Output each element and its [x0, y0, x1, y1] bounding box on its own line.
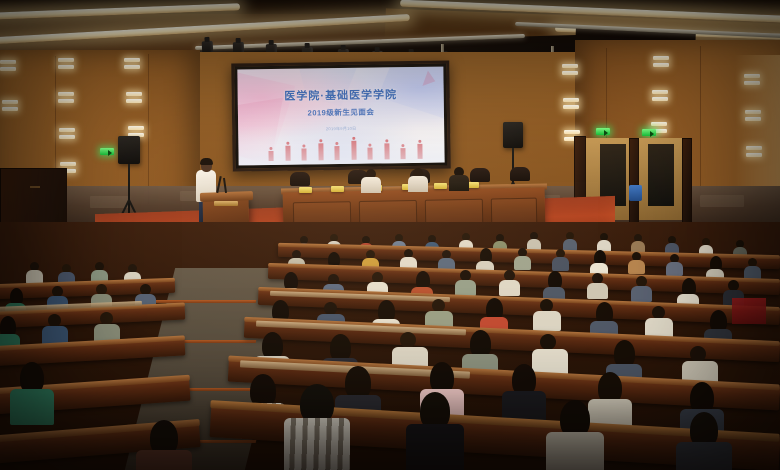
wall-sconce [653, 56, 669, 70]
name-card [331, 186, 344, 192]
pa-speaker-right [503, 122, 523, 148]
wall-sconce [126, 92, 142, 106]
slide-content: 医学院·基础医学学院 2019级新生见面会 2019年9月10日 [237, 67, 444, 166]
right-door-leaf[interactable] [682, 138, 692, 224]
exit-sign-icon [642, 129, 656, 136]
auditorium-photo: 医学院·基础医学学院 2019级新生见面会 2019年9月10日 [0, 0, 780, 470]
slide-subtitle: 2019级新生见面会 [238, 106, 444, 120]
right-door-glass [648, 144, 674, 206]
red-wall-banner [732, 298, 766, 324]
pa-speaker-left-stand [128, 164, 130, 216]
stage-chair [290, 172, 310, 186]
wall-sconce [124, 58, 140, 72]
projection-screen: 医学院·基础医学学院 2019级新生见面会 2019年9月10日 [231, 60, 450, 171]
pa-speaker-left [118, 136, 140, 164]
left-door-handle[interactable] [30, 186, 40, 188]
wall-sconce [744, 74, 760, 88]
name-card [434, 183, 447, 189]
stage-chair [470, 168, 490, 182]
wall-seam [700, 46, 701, 196]
aisle-step [146, 300, 257, 303]
wall-sconce [563, 98, 579, 112]
podium-emblem [214, 201, 238, 206]
wall-sconce [652, 90, 668, 104]
wall-sconce [562, 64, 578, 78]
exit-sign-icon [100, 148, 114, 155]
right-door-leaf[interactable] [629, 138, 639, 224]
wall-seam [148, 54, 149, 204]
slide-haze [238, 122, 445, 165]
stage-chair [510, 167, 530, 181]
speaker-hair [200, 158, 213, 165]
wall-sconce [2, 100, 18, 114]
trash-bin [629, 185, 642, 201]
wall-sconce [745, 110, 761, 124]
wall-sconce [59, 128, 75, 142]
slide-title: 医学院·基础医学学院 [238, 86, 444, 105]
name-card [299, 187, 312, 193]
wall-sconce [58, 92, 74, 106]
exit-sign-icon [596, 128, 610, 135]
wall-sconce [0, 60, 16, 74]
wall-sconce [746, 146, 762, 160]
wall-sconce [58, 58, 74, 72]
